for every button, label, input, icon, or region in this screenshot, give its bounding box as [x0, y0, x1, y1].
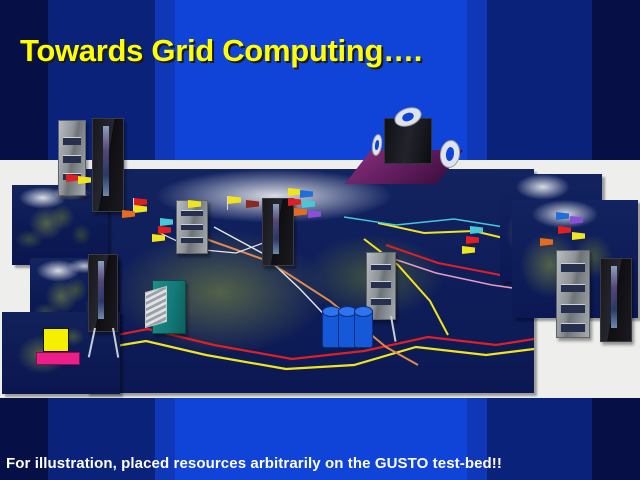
site-flagpole: [133, 198, 134, 212]
supercomputer-teal: [152, 280, 186, 334]
link-cyan: [344, 217, 504, 227]
server-rack-gray-2: [176, 200, 208, 254]
link-yellow: [86, 341, 534, 369]
server-rack-gray-1: [58, 120, 86, 196]
server-rack-dark-right: [600, 258, 632, 342]
server-rack-dark-3: [262, 198, 294, 266]
slide-caption: For illustration, placed resources arbit…: [6, 455, 502, 472]
slide: Towards Grid Computing….: [0, 0, 640, 480]
pc-base: [36, 352, 80, 365]
server-rack-dark-2: [88, 254, 118, 332]
page-title: Towards Grid Computing….: [20, 33, 422, 69]
grid-computing-illustration: [0, 160, 640, 398]
server-rack-dark-1: [92, 118, 124, 212]
pc-screen: [43, 328, 69, 352]
site-flagpole: [227, 196, 228, 210]
disk-cylinder: [354, 310, 373, 348]
server-rack-gray-right: [556, 250, 590, 338]
supercomputer-vent: [145, 286, 167, 329]
